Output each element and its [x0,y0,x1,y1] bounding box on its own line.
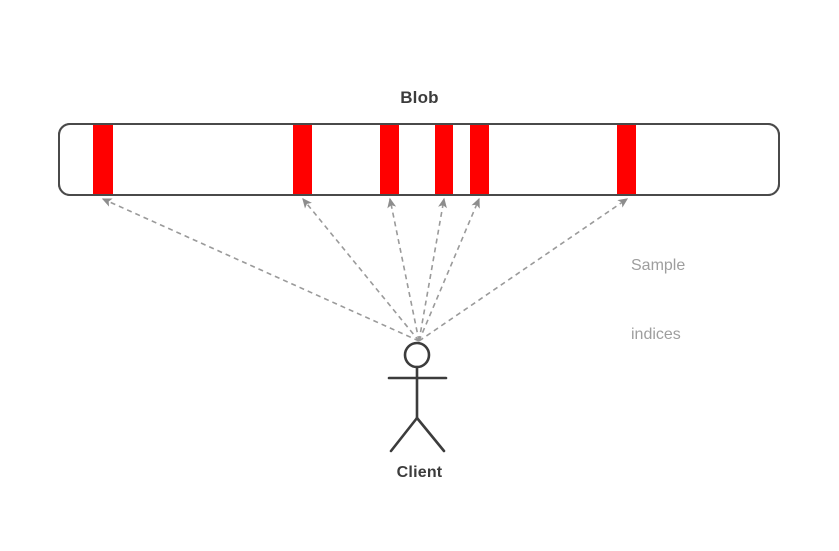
sample-indices-line-1: Sample [631,254,781,277]
sample-bar-3[interactable] [380,125,399,194]
client-label: Client [0,464,839,482]
sample-bar-5[interactable] [470,125,489,194]
sample-bar-2[interactable] [293,125,312,194]
sample-bar-4[interactable] [435,125,453,194]
client-head-icon [405,343,429,367]
blob-rectangle[interactable] [59,124,779,195]
arrow-to-sample-1 [103,199,419,341]
client-stick-figure[interactable] [389,343,446,451]
arrow-to-sample-4 [419,199,444,341]
sample-indices-annotation: Sample indices [631,208,781,392]
sample-bar-1[interactable] [93,125,113,194]
arrow-to-sample-2 [303,199,419,341]
sample-bar-6[interactable] [617,125,636,194]
diagram-canvas: Blob Sample indices Client [0,0,839,551]
sampling-arrow-group [103,199,627,341]
blob-title: Blob [0,88,839,108]
client-leg-right [417,418,444,451]
sample-indices-line-2: indices [631,323,781,346]
arrow-to-sample-6 [419,199,627,341]
client-leg-left [391,418,417,451]
arrow-to-sample-3 [390,199,419,341]
